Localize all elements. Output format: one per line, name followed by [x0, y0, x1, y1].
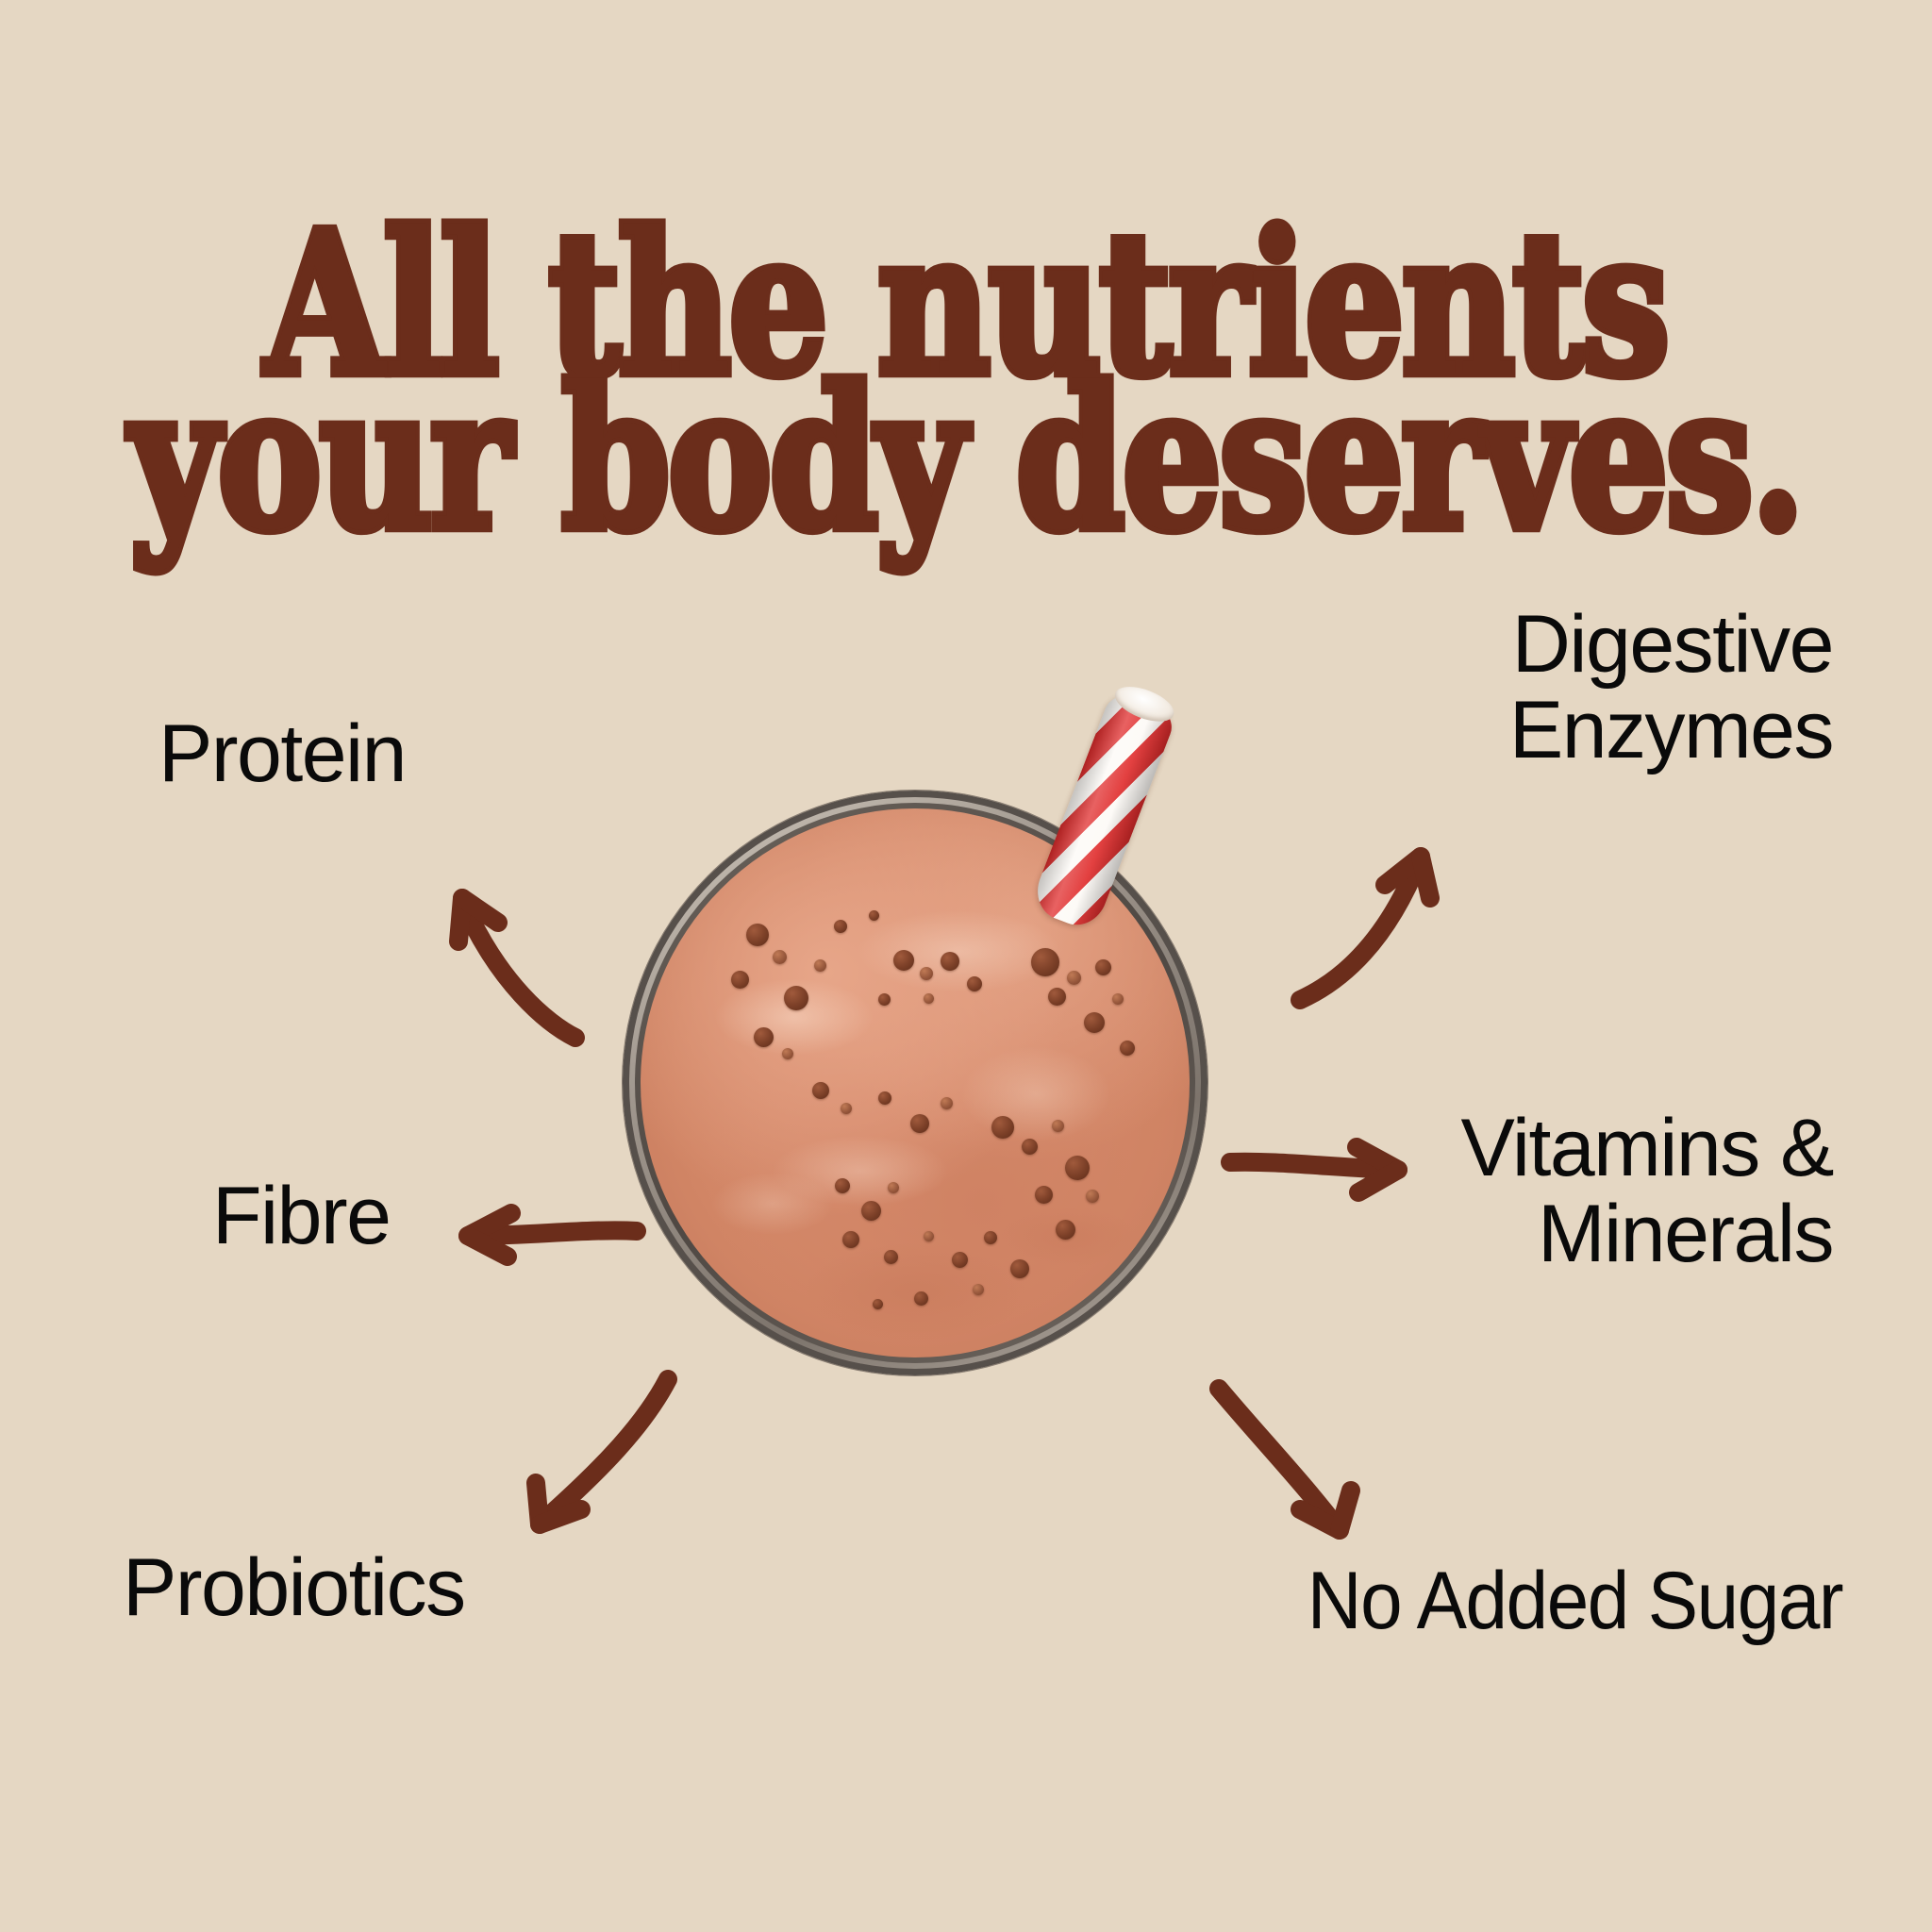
smoothie-bubble: [941, 952, 959, 971]
smoothie-bubble: [841, 1103, 852, 1114]
smoothie-bubble: [973, 1284, 984, 1295]
smoothie-bubble: [834, 920, 847, 933]
smoothie-bubble: [878, 1091, 891, 1105]
smoothie-bubble: [893, 950, 914, 971]
smoothie-bubble: [746, 924, 769, 946]
smoothie-bubble: [910, 1114, 929, 1133]
smoothie-bubble: [812, 1082, 829, 1099]
callout-label-probiotics: Probiotics: [123, 1545, 465, 1631]
smoothie-bubble: [835, 1178, 850, 1193]
smoothie-bubble: [952, 1252, 968, 1268]
smoothie-bubble: [1052, 1120, 1064, 1132]
smoothie-bubble: [1120, 1041, 1135, 1056]
smoothie-bubble: [861, 1201, 881, 1221]
smoothie-bubble: [914, 1291, 928, 1306]
smoothie-bubble: [941, 1097, 953, 1109]
smoothie-bubble: [1022, 1139, 1038, 1155]
curved-arrow-to-probiotics: [500, 1349, 774, 1585]
smoothie-bubble: [924, 1231, 934, 1241]
smoothie-bubble: [984, 1231, 997, 1244]
smoothie-bubble: [814, 959, 826, 972]
smoothie-bubble: [1035, 1186, 1053, 1204]
smoothie-bubble: [967, 976, 982, 991]
headline-line-2: your body deserves.: [68, 378, 1865, 540]
smoothie-bubble: [782, 1048, 793, 1059]
smoothie-bubble: [1095, 959, 1111, 975]
smoothie-bubble: [1086, 1190, 1099, 1203]
smoothie-bubble: [884, 1250, 898, 1264]
smoothie-bubble: [873, 1299, 883, 1309]
smoothie-bubble: [991, 1116, 1014, 1139]
smoothie-bubble: [773, 950, 787, 964]
curved-arrow-to-digestive-enzymes: [1255, 830, 1538, 1066]
callout-label-no-added-sugar: No Added Sugar: [1307, 1558, 1842, 1644]
smoothie-bubble: [842, 1231, 859, 1248]
page-title: All the nutrients your body deserves.: [0, 224, 1932, 516]
curved-arrow-to-no-added-sugar: [1170, 1349, 1443, 1585]
smoothie-bubble: [920, 967, 933, 980]
smoothie-bubble: [731, 971, 749, 989]
callout-label-fibre: Fibre: [212, 1174, 390, 1259]
straight-arrow-to-fibre: [453, 1198, 651, 1283]
smoothie-bubble: [878, 993, 891, 1006]
callout-label-digestive-enzymes: Digestive Enzymes: [1509, 602, 1833, 774]
smoothie-bubble: [1084, 1012, 1105, 1033]
smoothie-bubble: [924, 993, 934, 1004]
smoothie-bubble: [1010, 1259, 1029, 1278]
smoothie-bubble: [888, 1182, 899, 1193]
smoothie-bubble: [869, 910, 879, 921]
infographic-canvas: All the nutrients your body deserves.: [0, 0, 1932, 1932]
smoothie-bubble: [784, 986, 808, 1010]
smoothie-bubble: [1056, 1220, 1075, 1240]
smoothie-bubble: [1048, 988, 1066, 1006]
callout-label-vitamins-minerals: Vitamins & Minerals: [1461, 1106, 1833, 1277]
straight-arrow-to-vitamins-minerals: [1217, 1132, 1415, 1217]
smoothie-bubble: [1112, 993, 1124, 1005]
smoothie-glass-image: [623, 791, 1207, 1375]
callout-label-protein: Protein: [158, 711, 406, 797]
smoothie-bubble: [1065, 1156, 1090, 1180]
smoothie-bubble: [1067, 971, 1081, 985]
smoothie-bubble: [754, 1027, 774, 1047]
smoothie-bubble: [1031, 948, 1059, 976]
